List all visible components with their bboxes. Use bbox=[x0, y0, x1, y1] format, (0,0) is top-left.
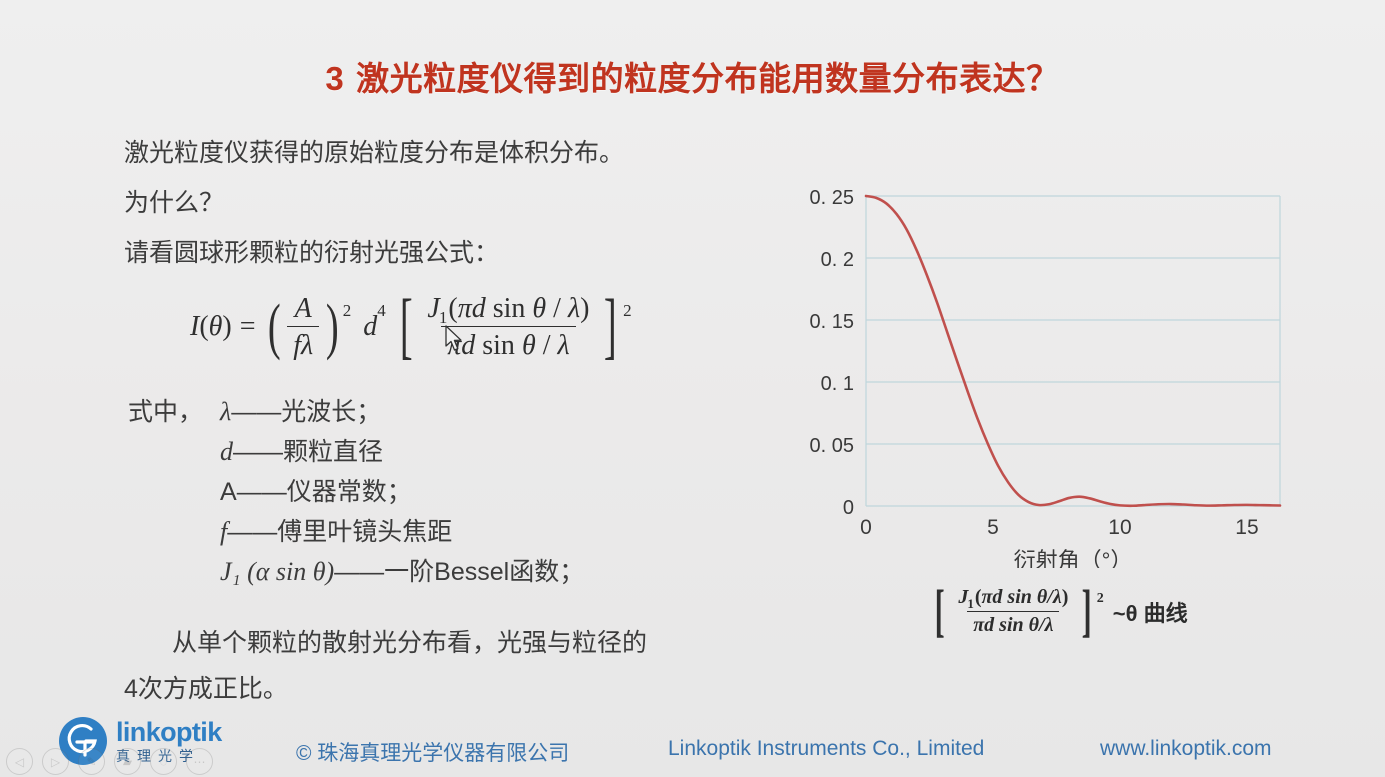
title-text: 激光粒度仪得到的粒度分布能用数量分布表达？ bbox=[356, 60, 1060, 97]
symbol-lambda: λ bbox=[220, 397, 231, 426]
left-bracket: [ bbox=[400, 301, 413, 353]
y-tick-label: 0. 05 bbox=[810, 435, 854, 457]
footer-company-cn: © 珠海真理光学仪器有限公司 bbox=[296, 737, 569, 767]
caption-denominator: πd sin θ/λ bbox=[967, 611, 1059, 638]
footer-company-en: Linkoptik Instruments Co., Limited bbox=[668, 737, 984, 761]
factor-denominator: fλ bbox=[287, 326, 319, 362]
definition-text-bessel: 一阶Bessel函数； bbox=[384, 558, 584, 586]
page-title: 3激光粒度仪得到的粒度分布能用数量分布表达？ bbox=[0, 52, 1385, 100]
dash-3: —— bbox=[227, 518, 277, 546]
logo-wordmark: linkoptik bbox=[116, 719, 222, 746]
presentation-slide: 3激光粒度仪得到的粒度分布能用数量分布表达？ 激光粒度仪获得的原始粒度分布是体积… bbox=[0, 0, 1385, 777]
definition-text-a: 仪器常数； bbox=[287, 478, 412, 506]
factor-exponent: 2 bbox=[343, 301, 352, 321]
definition-row-a: A——仪器常数； bbox=[128, 472, 584, 512]
x-tick-label: 0 bbox=[860, 516, 872, 539]
diameter-term: d4 bbox=[363, 311, 386, 343]
y-tick-label: 0. 25 bbox=[810, 187, 854, 209]
y-tick-label: 0. 1 bbox=[821, 373, 854, 395]
eraser-button[interactable]: ▰ bbox=[114, 748, 141, 775]
equals-sign: = bbox=[240, 311, 256, 343]
definition-text-f: 傅里叶镜头焦距 bbox=[277, 518, 452, 546]
title-number: 3 bbox=[325, 60, 344, 97]
zoom-button[interactable]: ◌ bbox=[150, 748, 177, 775]
definition-text-lambda: 光波长； bbox=[281, 398, 381, 426]
definition-row-lambda: 式中，λ——光波长； bbox=[128, 392, 584, 432]
definition-row-d: d——颗粒直径 bbox=[128, 432, 584, 472]
pen-button[interactable]: ✎ bbox=[78, 748, 105, 775]
chart-series-line bbox=[866, 196, 1280, 506]
body-paragraph-1: 激光粒度仪获得的原始粒度分布是体积分布。 bbox=[124, 128, 784, 178]
play-button[interactable]: ▷ bbox=[42, 748, 69, 775]
closing-line-2: 4次方成正比。 bbox=[124, 666, 647, 712]
body-paragraph-3: 请看圆球形颗粒的衍射光强公式： bbox=[124, 228, 784, 278]
symbol-d: d bbox=[220, 437, 233, 466]
bracket-numerator: J1(πd sin θ / λ) bbox=[421, 292, 595, 326]
x-tick-label: 10 bbox=[1108, 516, 1131, 539]
chart-svg: 00. 050. 10. 150. 20. 25051015衍射角（°） bbox=[790, 168, 1300, 568]
d-symbol: d bbox=[363, 311, 377, 343]
diffraction-intensity-formula: I(θ) = ( A fλ )2 d4 [ J1(πd sin θ / λ) π… bbox=[190, 292, 632, 362]
chart-caption-formula: [ J1(πd sin θ/λ) πd sin θ/λ ]2 ~θ 曲线 bbox=[930, 586, 1188, 637]
aperture-factor: ( A fλ )2 bbox=[264, 292, 352, 362]
definition-text-d: 颗粒直径 bbox=[283, 438, 383, 466]
body-text-block: 激光粒度仪获得的原始粒度分布是体积分布。 为什么？ 请看圆球形颗粒的衍射光强公式… bbox=[124, 128, 784, 278]
previous-button[interactable]: ◁ bbox=[6, 748, 33, 775]
symbol-definitions-list: 式中，λ——光波长； d——颗粒直径 A——仪器常数； f——傅里叶镜头焦距 J… bbox=[128, 392, 584, 592]
right-bracket: ] bbox=[604, 301, 617, 353]
body-paragraph-2: 为什么？ bbox=[124, 178, 784, 228]
d-exponent: 4 bbox=[377, 301, 386, 321]
player-controls[interactable]: ◁▷✎▰◌⋯ bbox=[6, 748, 213, 775]
x-tick-label: 15 bbox=[1235, 516, 1258, 539]
y-tick-label: 0. 15 bbox=[810, 311, 854, 333]
bracket-denominator: πd sin θ / λ bbox=[441, 326, 575, 362]
caption-tail: ~θ 曲线 bbox=[1113, 596, 1188, 628]
right-paren: ) bbox=[326, 305, 339, 350]
more-button[interactable]: ⋯ bbox=[186, 748, 213, 775]
formula-lhs: I bbox=[190, 311, 199, 343]
footer-website-link[interactable]: www.linkoptik.com bbox=[1100, 737, 1272, 761]
caption-right-bracket: ] bbox=[1082, 591, 1092, 632]
left-paren: ( bbox=[267, 305, 280, 350]
caption-numerator: J1(πd sin θ/λ) bbox=[952, 586, 1074, 611]
symbol-bessel: J₁ (α sin θ) bbox=[220, 557, 334, 586]
dash-0: —— bbox=[231, 398, 281, 426]
y-tick-label: 0 bbox=[843, 497, 854, 519]
caption-exponent: 2 bbox=[1097, 591, 1104, 607]
definitions-lead-label: 式中， bbox=[128, 392, 220, 432]
dash-4: —— bbox=[334, 558, 384, 586]
closing-line-1: 从单个颗粒的散射光分布看，光强与粒径的 bbox=[124, 620, 647, 666]
y-tick-label: 0. 2 bbox=[821, 249, 854, 271]
diffraction-pattern-chart: 00. 050. 10. 150. 20. 25051015衍射角（°） bbox=[790, 168, 1300, 568]
bracket-exponent: 2 bbox=[623, 301, 632, 321]
closing-text-block: 从单个颗粒的散射光分布看，光强与粒径的 4次方成正比。 bbox=[124, 620, 647, 712]
dash-2: —— bbox=[237, 478, 287, 506]
x-tick-label: 5 bbox=[987, 516, 999, 539]
caption-left-bracket: [ bbox=[935, 591, 945, 632]
definition-row-bessel: J₁ (α sin θ)——一阶Bessel函数； bbox=[128, 552, 584, 592]
definition-row-f: f——傅里叶镜头焦距 bbox=[128, 512, 584, 552]
symbol-a: A bbox=[220, 478, 237, 506]
x-axis-label: 衍射角（°） bbox=[1014, 548, 1133, 568]
bessel-bracket: [ J1(πd sin θ / λ) πd sin θ / λ ]2 bbox=[394, 292, 632, 362]
factor-numerator: A bbox=[289, 292, 318, 326]
dash-1: —— bbox=[233, 438, 283, 466]
